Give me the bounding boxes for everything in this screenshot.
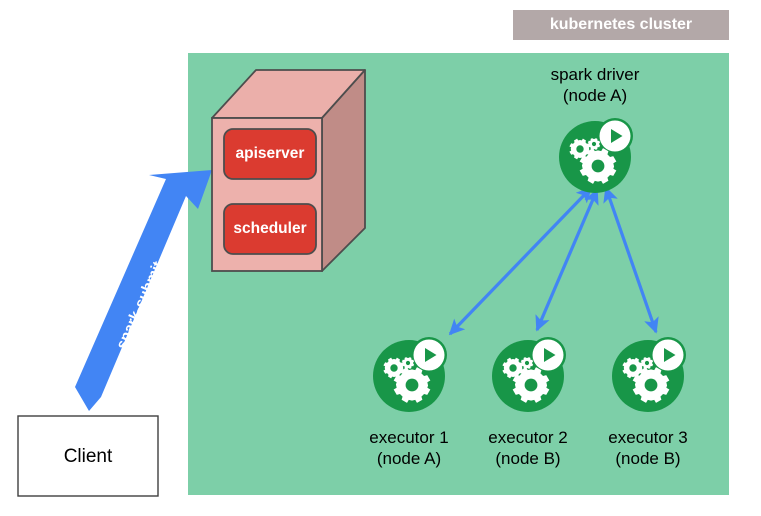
executor-2-label-line2: (node B) (468, 448, 588, 469)
scheduler-label: scheduler (224, 220, 316, 238)
executor-1-label-line2: (node A) (349, 448, 469, 469)
spark-driver-label-line2: (node A) (535, 85, 655, 106)
executor-1-label-line1: executor 1 (349, 427, 469, 448)
apiserver-label: apiserver (224, 145, 316, 163)
executor-3-label-line2: (node B) (588, 448, 708, 469)
kubernetes-cluster-badge-label: kubernetes cluster (535, 16, 707, 34)
diagram-canvas: kubernetes cluster apiserver scheduler C… (0, 0, 761, 516)
control-plane-cube (212, 70, 365, 271)
executor-3-label-line1: executor 3 (588, 427, 708, 448)
client-label: Client (18, 446, 158, 468)
spark-driver-label-line1: spark driver (535, 64, 655, 85)
executor-2-label-line1: executor 2 (468, 427, 588, 448)
